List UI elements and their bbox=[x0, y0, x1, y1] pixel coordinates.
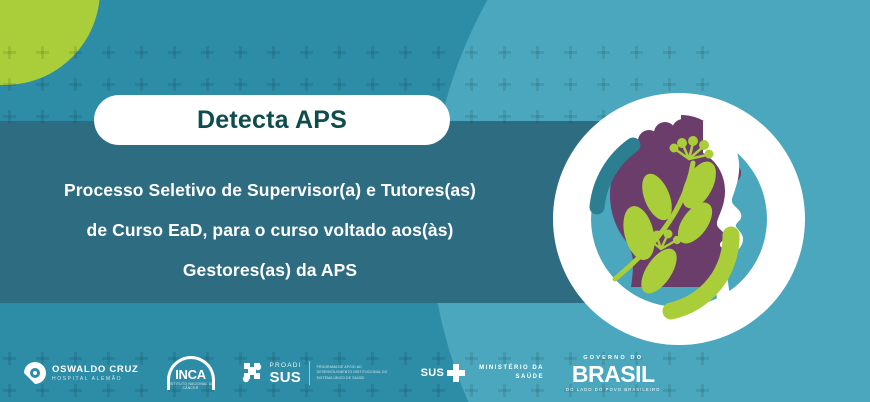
proadi-divider bbox=[309, 361, 310, 385]
headline-line-2: de Curso EaD, para o curso voltado aos(à… bbox=[0, 210, 540, 250]
logo-inca: INCA INSTITUTO NACIONAL DE CÂNCER bbox=[165, 356, 217, 390]
health-cross-icon bbox=[447, 364, 465, 382]
headline-line-3: Gestores(as) da APS bbox=[0, 250, 540, 290]
illustration-artwork bbox=[553, 93, 805, 345]
headline-line-1: Processo Seletivo de Supervisor(a) e Tut… bbox=[0, 170, 540, 210]
oswaldo-cruz-subtitle: HOSPITAL ALEMÃO bbox=[52, 375, 139, 383]
ministerio-line-2: SAÚDE bbox=[479, 373, 544, 382]
oswaldo-cruz-icon bbox=[24, 362, 46, 384]
banner-canvas: Detecta APS Processo Seletivo de Supervi… bbox=[0, 0, 870, 402]
badge-detecta-aps: Detecta APS bbox=[94, 95, 450, 145]
proadi-fine-print: PROGRAMA DE APOIO AO DESENVOLVIMENTO INS… bbox=[317, 365, 395, 381]
logo-oswaldo-cruz: OSWALDO CRUZ HOSPITAL ALEMÃO bbox=[24, 362, 139, 384]
inca-name: INCA bbox=[165, 367, 217, 382]
headline-block: Processo Seletivo de Supervisor(a) e Tut… bbox=[0, 170, 540, 290]
brasil-tagline: DO LADO DO POVO BRASILEIRO bbox=[566, 386, 660, 393]
illustration-emblem bbox=[553, 93, 805, 345]
oswaldo-cruz-name: OSWALDO CRUZ bbox=[52, 364, 139, 375]
ministerio-line-1: MINISTÉRIO DA bbox=[479, 364, 544, 373]
logo-sus: SUS bbox=[421, 364, 466, 382]
proadi-sus-label: SUS bbox=[270, 370, 302, 385]
logo-governo-do-brasil: GOVERNO DO BRASIL DO LADO DO POVO BRASIL… bbox=[566, 354, 660, 393]
sus-label: SUS bbox=[421, 367, 445, 379]
brasil-label: BRASIL bbox=[566, 362, 660, 386]
logo-ministerio-da-saude: MINISTÉRIO DA SAÚDE bbox=[479, 364, 544, 382]
badge-label: Detecta APS bbox=[197, 106, 347, 135]
partner-logo-bar: OSWALDO CRUZ HOSPITAL ALEMÃO INCA INSTIT… bbox=[0, 344, 870, 402]
proadi-sus-icon bbox=[239, 360, 265, 386]
inca-subtitle: INSTITUTO NACIONAL DE CÂNCER bbox=[165, 382, 217, 390]
logo-proadi-sus: PROADI SUS PROGRAMA DE APOIO AO DESENVOL… bbox=[239, 360, 395, 386]
